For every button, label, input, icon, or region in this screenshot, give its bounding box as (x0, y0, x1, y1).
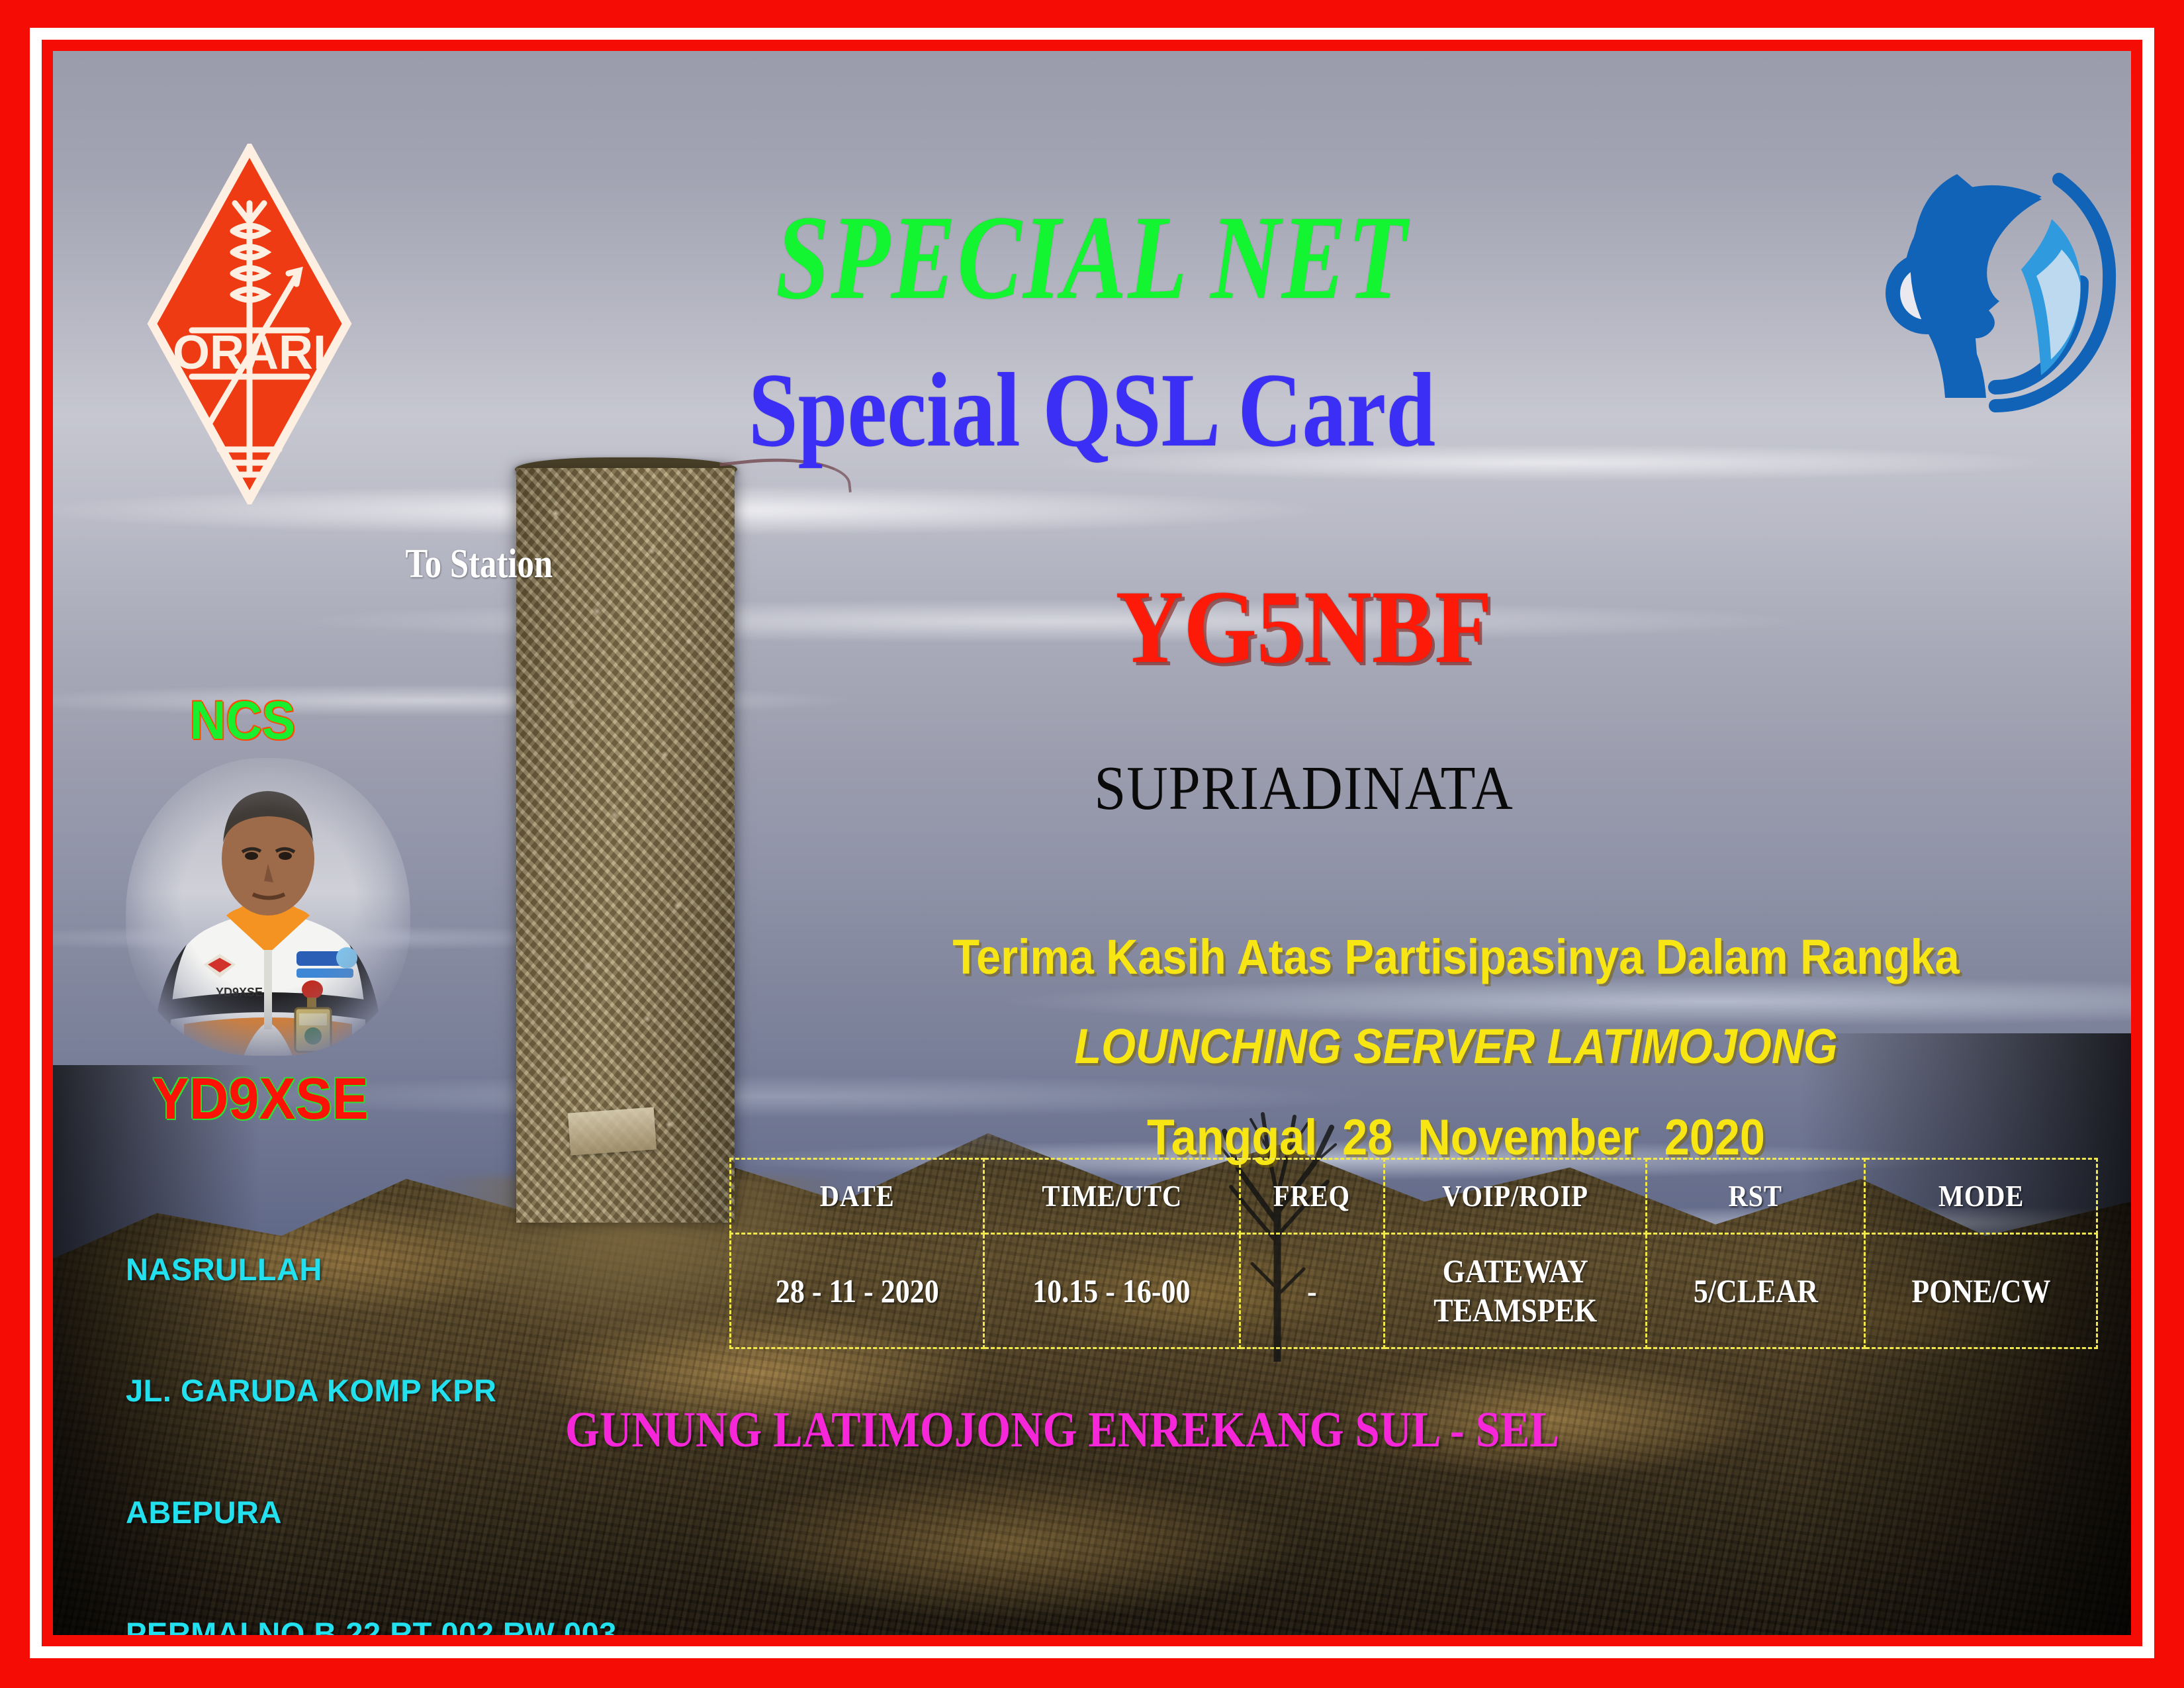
card-photo-background: ORARI SPECIAL NET (53, 51, 2131, 1635)
table-header-rst-label: RST (1729, 1178, 1782, 1214)
table-row: 28 - 11 - 2020 10.15 - 16-00 - GATEWAY T… (731, 1234, 2097, 1348)
address-line: NASRULLAH (126, 1249, 617, 1289)
table-cell-rst-value: 5/CLEAR (1694, 1272, 1818, 1311)
table-cell-date-value: 28 - 11 - 2020 (775, 1272, 938, 1311)
table-cell-rst: 5/CLEAR (1646, 1234, 1864, 1348)
page-title: SPECIAL NET (261, 189, 1923, 327)
thanks-line-2: LOUNCHING SERVER LATIMOJONG (896, 1018, 2016, 1074)
table-header-mode: MODE (1865, 1159, 2097, 1234)
card-white-border: ORARI SPECIAL NET (30, 28, 2154, 1658)
table-cell-voip-value: GATEWAY TEAMSPEK (1401, 1252, 1629, 1330)
table-cell-freq-value: - (1307, 1272, 1317, 1311)
table-cell-freq: - (1240, 1234, 1384, 1348)
qsl-card: ORARI SPECIAL NET (0, 0, 2184, 1688)
table-cell-voip: GATEWAY TEAMSPEK (1384, 1234, 1646, 1348)
table-cell-mode-value: PONE/CW (1911, 1272, 2050, 1311)
address-line: ABEPURA (126, 1492, 617, 1532)
table-header-time-label: TIME/UTC (1042, 1178, 1182, 1214)
ncs-callsign: YD9XSE (152, 1065, 368, 1133)
card-inner-red-border: ORARI SPECIAL NET (42, 40, 2142, 1646)
table-header-voip: VOIP/ROIP (1384, 1159, 1646, 1234)
to-station-label: To Station (405, 541, 553, 588)
station-callsign: YG5NBF (1006, 567, 1602, 688)
thanks-block: Terima Kasih Atas Partisipasinya Dalam R… (834, 905, 2078, 1190)
location-caption: GUNUNG LATIMOJONG ENREKANG SUL - SEL (122, 1401, 2003, 1459)
ncs-label: NCS (190, 690, 295, 752)
ncs-operator-photo: YD9XSE (126, 758, 410, 1056)
table-header-freq-label: FREQ (1273, 1178, 1350, 1214)
table-cell-date: 28 - 11 - 2020 (731, 1234, 984, 1348)
thanks-line-1: Terima Kasih Atas Partisipasinya Dalam R… (896, 929, 2016, 985)
table-header-date-label: DATE (819, 1178, 894, 1214)
station-operator-name: SUPRIADINATA (938, 753, 1669, 824)
table-header-date: DATE (731, 1159, 984, 1234)
photo-name-badge: YD9XSE (216, 986, 263, 999)
table-cell-time-value: 10.15 - 16-00 (1033, 1272, 1191, 1311)
table-cell-time: 10.15 - 16-00 (983, 1234, 1240, 1348)
qso-log-table: DATE TIME/UTC FREQ VOIP/ROIP RST MODE 28… (729, 1158, 2098, 1349)
monument-plaque (568, 1107, 657, 1156)
table-header-mode-label: MODE (1938, 1178, 2023, 1214)
motto-text: "AMATIR RADIO ADALAH PROGRESIVE" (236, 1629, 1123, 1635)
table-header-freq: FREQ (1240, 1159, 1384, 1234)
table-header-time: TIME/UTC (983, 1159, 1240, 1234)
website-address: Address : amatir.latimojong.com (1399, 1629, 2003, 1635)
table-cell-mode: PONE/CW (1865, 1234, 2097, 1348)
page-subtitle: Special QSL Card (219, 349, 1965, 471)
table-header-voip-label: VOIP/ROIP (1442, 1178, 1588, 1214)
table-header-rst: RST (1646, 1159, 1864, 1234)
table-header-row: DATE TIME/UTC FREQ VOIP/ROIP RST MODE (731, 1159, 2097, 1234)
